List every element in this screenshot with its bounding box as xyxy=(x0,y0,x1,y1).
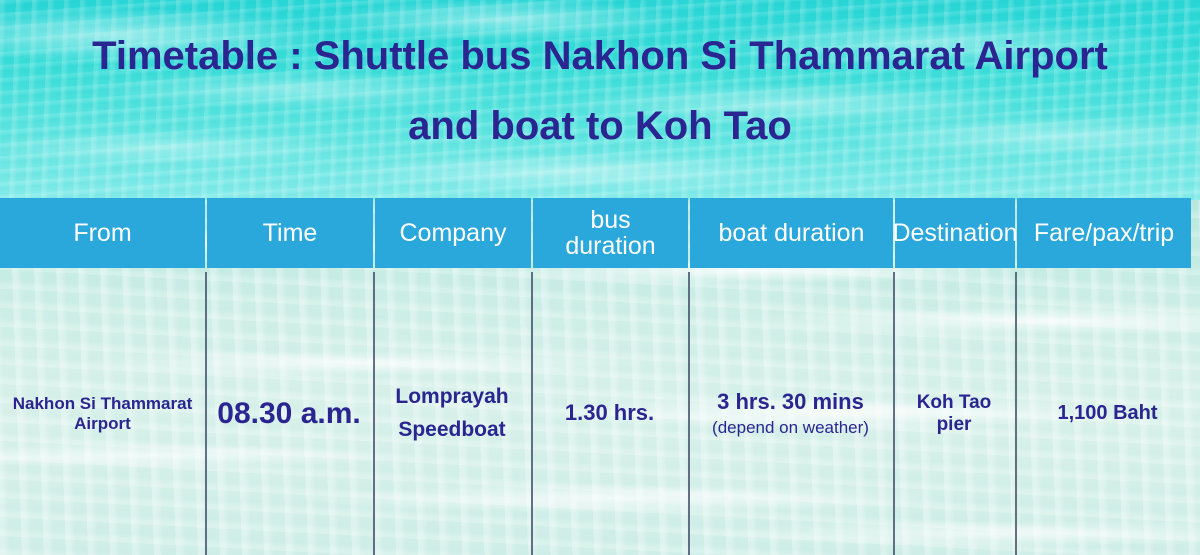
column-header-boat-duration: boat duration xyxy=(690,198,893,268)
cell-fare: 1,100 Baht xyxy=(1015,272,1200,555)
cell-company: Lomprayah Speedboat xyxy=(373,272,531,555)
column-header-bus-duration: bus duration xyxy=(533,198,688,268)
cell-from: Nakhon Si Thammarat Airport xyxy=(0,272,205,555)
cell-destination: Koh Tao pier xyxy=(893,272,1015,555)
title-line-1: Timetable : Shuttle bus Nakhon Si Thamma… xyxy=(0,36,1200,76)
column-header-company: Company xyxy=(375,198,531,268)
column-header-from: From xyxy=(0,198,205,268)
cell-time: 08.30 a.m. xyxy=(205,272,373,555)
column-header-bus-duration-line2: duration xyxy=(565,233,655,260)
column-header-destination: Destination xyxy=(895,198,1015,268)
table-row: Nakhon Si Thammarat Airport 08.30 a.m. L… xyxy=(0,272,1200,555)
page-title: Timetable : Shuttle bus Nakhon Si Thamma… xyxy=(0,36,1200,146)
cell-company-line1: Lomprayah xyxy=(395,381,508,414)
timetable-poster: Timetable : Shuttle bus Nakhon Si Thamma… xyxy=(0,0,1200,555)
column-header-bus-duration-line1: bus xyxy=(565,207,655,234)
cell-company-line2: Speedboat xyxy=(395,414,508,447)
table-header-row: From Time Company bus duration boat dura… xyxy=(0,198,1185,268)
cell-boat-duration-main: 3 hrs. 30 mins xyxy=(712,389,869,415)
column-header-time: Time xyxy=(207,198,373,268)
title-line-2: and boat to Koh Tao xyxy=(0,106,1200,146)
cell-boat-duration: 3 hrs. 30 mins (depend on weather) xyxy=(688,272,893,555)
cell-boat-duration-note: (depend on weather) xyxy=(712,418,869,438)
column-header-fare: Fare/pax/trip xyxy=(1017,198,1191,268)
cell-bus-duration: 1.30 hrs. xyxy=(531,272,688,555)
